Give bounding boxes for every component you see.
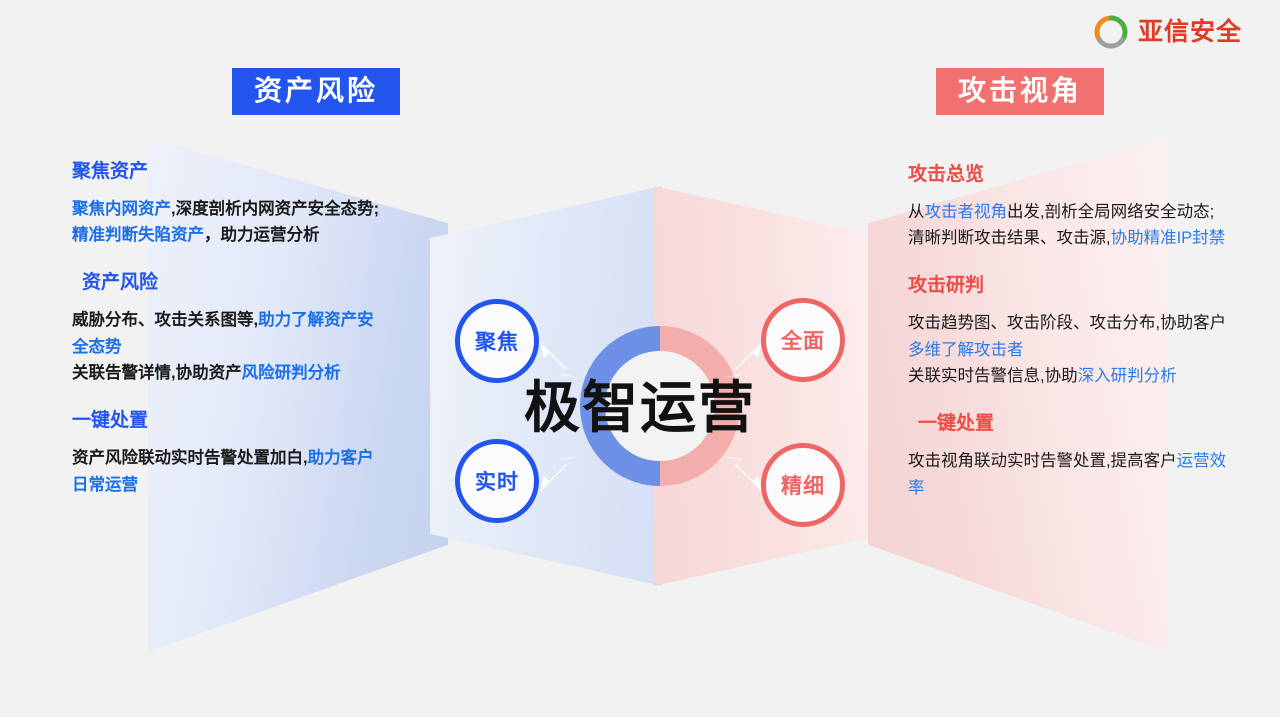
right-section-body-2: 攻击趋势图、攻击阶段、攻击分布,协助客户多维了解攻击者关联实时告警信息,协助深入… — [908, 310, 1228, 390]
brand-logo-text: 亚信安全 — [1138, 20, 1242, 45]
left-section-heading-1: 聚焦资产 — [72, 160, 382, 184]
slide-canvas: 亚信安全 资产风险 攻击视角 聚焦 实时 全面 精细 极智运营 — [0, 0, 1280, 717]
left-section-body-2: 威胁分布、攻击关系图等,助力了解资产安全态势关联告警详情,协助资产风险研判分析 — [72, 307, 382, 387]
bubble-realtime[interactable]: 实时 — [455, 439, 539, 523]
header-badge-attack-view: 攻击视角 — [936, 68, 1104, 115]
right-section-body-3: 攻击视角联动实时告警处置,提高客户运营效率 — [908, 448, 1228, 501]
left-text-column: 聚焦资产 聚焦内网资产,深度剖析内网资产安全态势;精准判断失陷资产，助力运营分析… — [72, 160, 382, 520]
bubble-fine[interactable]: 精细 — [761, 443, 845, 527]
left-section-heading-2: 资产风险 — [72, 271, 382, 295]
bubble-full[interactable]: 全面 — [761, 298, 845, 382]
right-section-heading-3: 一键处置 — [908, 412, 1228, 436]
right-section-heading-1: 攻击总览 — [908, 163, 1228, 187]
right-text-column: 攻击总览 从攻击者视角出发,剖析全局网络安全动态;清晰判断攻击结果、攻击源,协助… — [908, 163, 1228, 523]
right-section-heading-2: 攻击研判 — [908, 274, 1228, 298]
ring-logo-icon — [1093, 14, 1129, 50]
brand-logo: 亚信安全 — [1093, 14, 1242, 50]
header-badge-asset-risk: 资产风险 — [232, 68, 400, 115]
left-section-heading-3: 一键处置 — [72, 409, 382, 433]
left-section-body-3: 资产风险联动实时告警处置加白,助力客户日常运营 — [72, 445, 382, 498]
left-section-body-1: 聚焦内网资产,深度剖析内网资产安全态势;精准判断失陷资产，助力运营分析 — [72, 196, 382, 249]
right-section-body-1: 从攻击者视角出发,剖析全局网络安全动态;清晰判断攻击结果、攻击源,协助精准IP封… — [908, 199, 1228, 252]
bubble-focus[interactable]: 聚焦 — [455, 299, 539, 383]
